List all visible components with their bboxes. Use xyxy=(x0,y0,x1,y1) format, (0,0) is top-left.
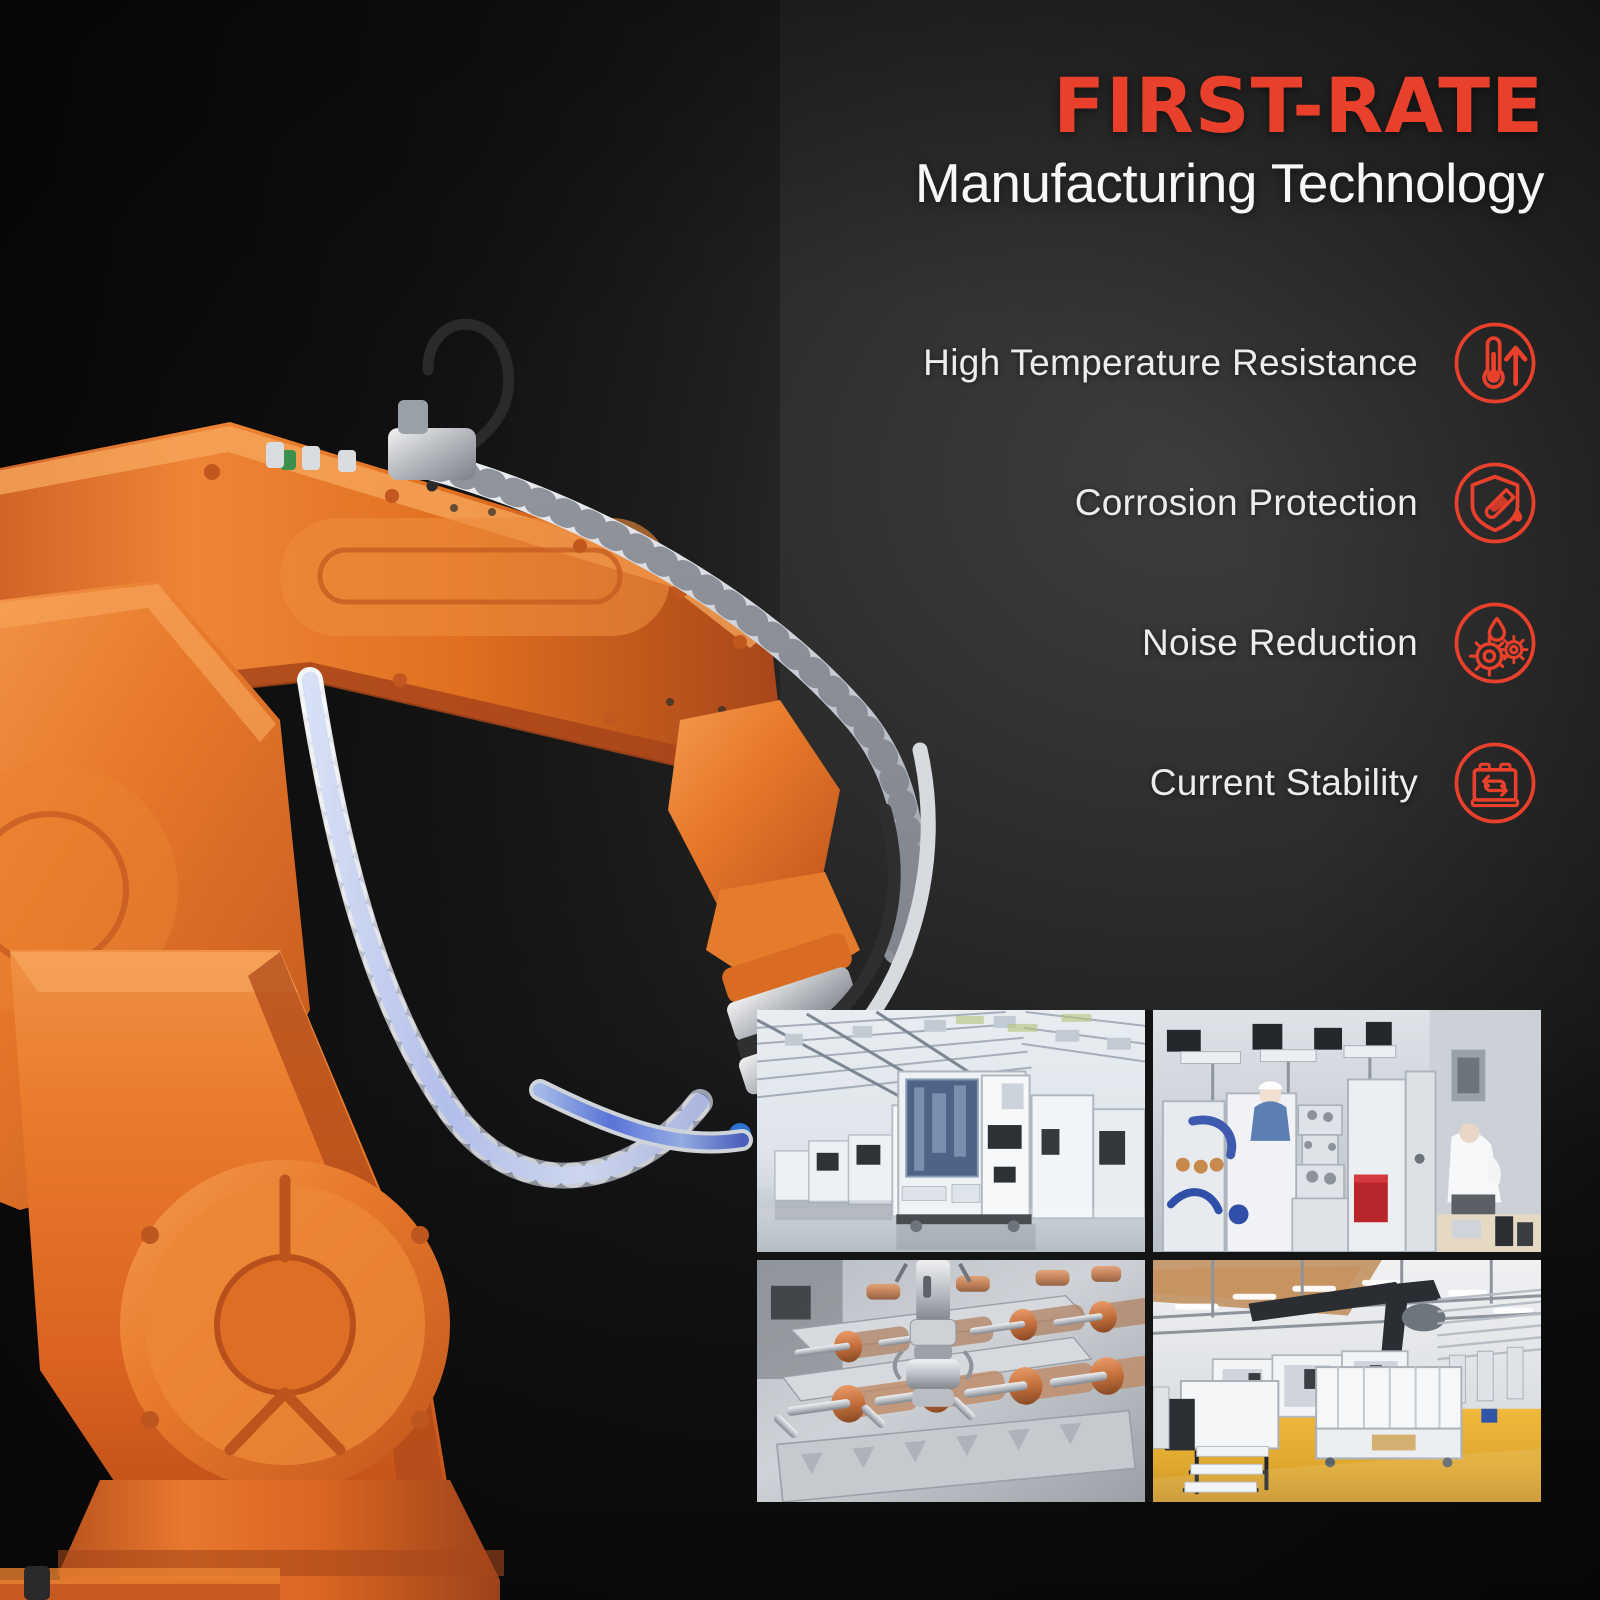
feature-label: Current Stability xyxy=(1150,762,1418,804)
feature-list: High Temperature Resistance Corrosion Pr… xyxy=(842,316,1542,830)
assembly-workstation xyxy=(1153,1010,1541,1252)
feature-item-noise-reduction: Noise Reduction xyxy=(842,596,1542,690)
thermometer-up-arrow-icon xyxy=(1448,316,1542,410)
factory-floor-overview xyxy=(1153,1260,1541,1502)
feature-item-current-stability: Current Stability xyxy=(842,736,1542,830)
photo-grid xyxy=(757,1010,1541,1502)
feature-label: Noise Reduction xyxy=(1142,622,1418,664)
headline-block: FIRST-RATE Manufacturing Technology xyxy=(784,68,1544,217)
page-title: FIRST-RATE xyxy=(784,68,1544,144)
motor-armature-tray xyxy=(757,1260,1145,1502)
feature-label: High Temperature Resistance xyxy=(923,342,1418,384)
page-subtitle: Manufacturing Technology xyxy=(784,150,1544,217)
clean-room-production-line xyxy=(757,1010,1145,1252)
feature-item-high-temperature-resistance: High Temperature Resistance xyxy=(842,316,1542,410)
poster-canvas: FIRST-RATE Manufacturing Technology High… xyxy=(0,0,1600,1600)
gears-oil-drop-icon xyxy=(1448,596,1542,690)
battery-recycle-arrows-icon xyxy=(1448,736,1542,830)
feature-item-corrosion-protection: Corrosion Protection xyxy=(842,456,1542,550)
shield-test-tube-icon xyxy=(1448,456,1542,550)
feature-label: Corrosion Protection xyxy=(1075,482,1418,524)
